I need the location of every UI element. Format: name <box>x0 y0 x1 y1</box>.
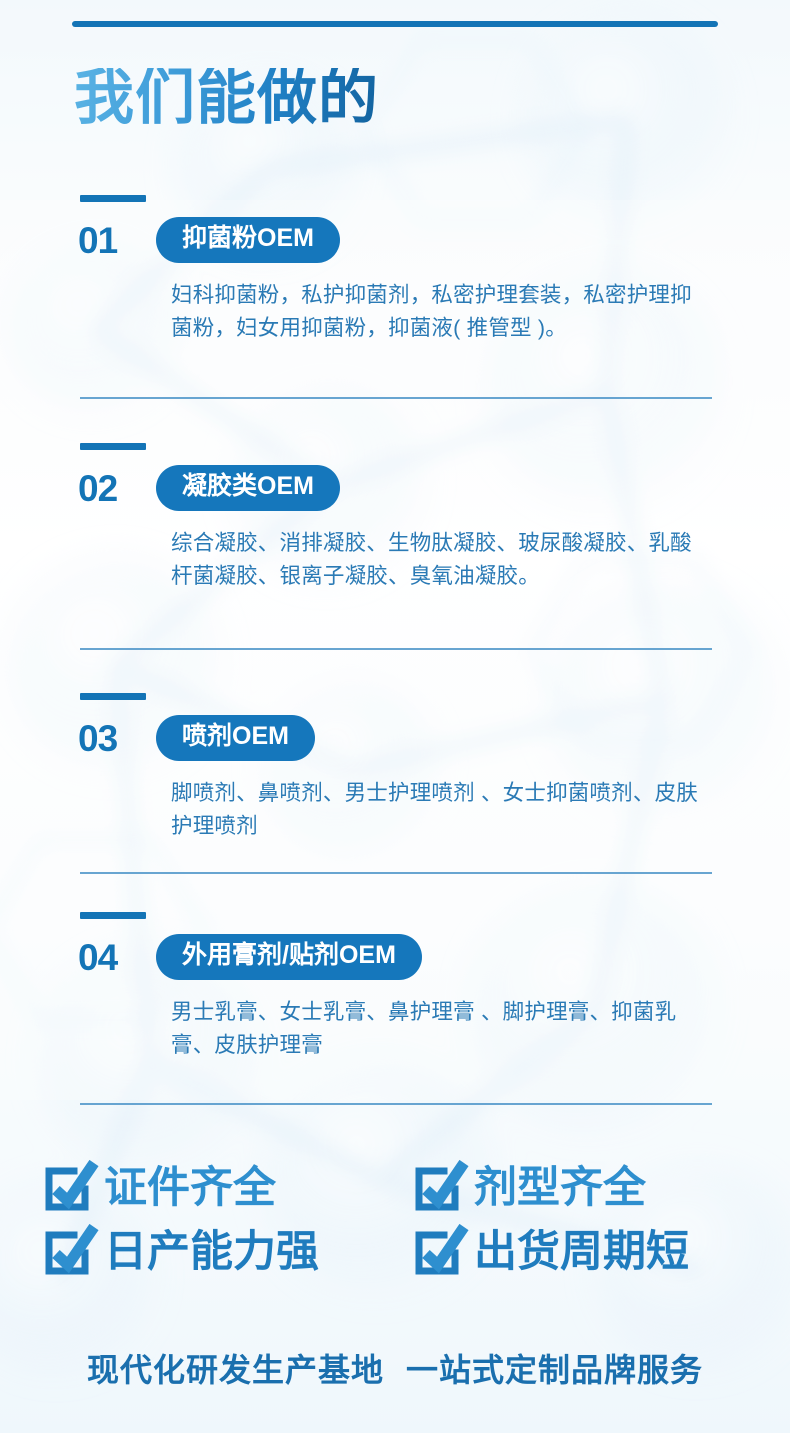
section-04-pill-label[interactable]: 外用膏剂/贴剂OEM <box>156 934 422 980</box>
section-04-description: 男士乳膏、女士乳膏、鼻护理膏 、脚护理膏、抑菌乳膏、皮肤护理膏 <box>171 996 706 1061</box>
section-01-dash <box>80 195 146 202</box>
feature-label-4: 出货周期短 <box>474 1231 689 1274</box>
feature-item-4: 出货周期短 <box>414 1227 784 1277</box>
section-02-number: 02 <box>78 470 156 507</box>
checkbox-check-icon <box>44 1227 96 1277</box>
section-03-header: 03 喷剂OEM <box>78 715 315 761</box>
section-03-dash <box>80 693 146 700</box>
section-03-pill-label[interactable]: 喷剂OEM <box>156 715 315 761</box>
feature-label-3: 日产能力强 <box>104 1231 319 1274</box>
section-04-dash <box>80 912 146 919</box>
section-04-number: 04 <box>78 939 156 976</box>
footer-tagline-left: 现代化研发生产基地 <box>87 1352 384 1388</box>
section-02-dash <box>80 443 146 450</box>
divider-after-03 <box>80 872 712 874</box>
feature-item-3: 日产能力强 <box>44 1227 414 1277</box>
section-02-description: 综合凝胶、消排凝胶、生物肽凝胶、玻尿酸凝胶、乳酸杆菌凝胶、银离子凝胶、臭氧油凝胶… <box>171 527 706 592</box>
feature-highlights: 证件齐全 剂型齐全 日产能力强 出货周期短 <box>0 1163 790 1277</box>
feature-item-2: 剂型齐全 <box>414 1163 784 1213</box>
section-01-header: 01 抑菌粉OEM <box>78 217 340 263</box>
footer-tagline: 现代化研发生产基地一站式定制品牌服务 <box>0 1345 790 1391</box>
section-04-header: 04 外用膏剂/贴剂OEM <box>78 934 422 980</box>
feature-label-2: 剂型齐全 <box>474 1167 646 1210</box>
section-03-description: 脚喷剂、鼻喷剂、男士护理喷剂 、女士抑菌喷剂、皮肤护理喷剂 <box>171 777 706 842</box>
footer-tagline-right: 一站式定制品牌服务 <box>406 1352 703 1388</box>
section-03-number: 03 <box>78 720 156 757</box>
checkbox-check-icon <box>414 1227 466 1277</box>
divider-after-04 <box>80 1103 712 1105</box>
checkbox-check-icon <box>414 1163 466 1213</box>
page-title: 我们能做的 <box>74 68 379 128</box>
section-02-header: 02 凝胶类OEM <box>78 465 340 511</box>
feature-item-1: 证件齐全 <box>44 1163 414 1213</box>
divider-after-01 <box>80 397 712 399</box>
section-01-pill-label[interactable]: 抑菌粉OEM <box>156 217 340 263</box>
section-02-pill-label[interactable]: 凝胶类OEM <box>156 465 340 511</box>
section-01-number: 01 <box>78 222 156 259</box>
top-rule-divider <box>72 21 718 27</box>
section-01-description: 妇科抑菌粉，私护抑菌剂，私密护理套装，私密护理抑菌粉，妇女用抑菌粉，抑菌液( 推… <box>171 279 706 344</box>
feature-label-1: 证件齐全 <box>104 1167 276 1210</box>
checkbox-check-icon <box>44 1163 96 1213</box>
divider-after-02 <box>80 648 712 650</box>
